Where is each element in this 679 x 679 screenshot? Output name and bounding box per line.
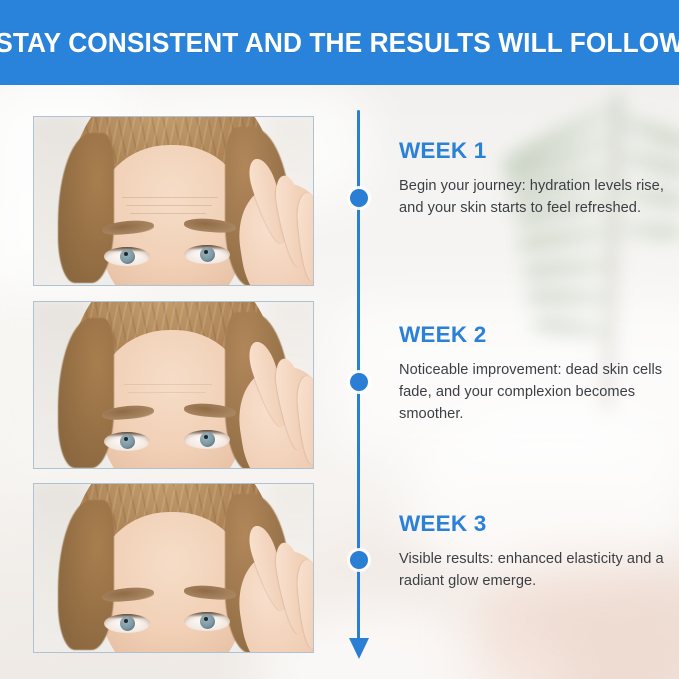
week-2-title: WEEK 2 (399, 322, 667, 348)
week-block-1: WEEK 1 Begin your journey: hydration lev… (399, 138, 667, 219)
eye-left (104, 247, 150, 266)
iris (120, 434, 135, 449)
face-photo (34, 117, 313, 285)
progress-photo-week-2 (33, 301, 314, 469)
progress-photo-week-3 (33, 483, 314, 653)
week-1-description: Begin your journey: hydration levels ris… (399, 175, 667, 219)
timeline-dot-week-1 (350, 189, 368, 207)
week-3-title: WEEK 3 (399, 511, 667, 537)
week-3-description: Visible results: enhanced elasticity and… (399, 548, 671, 592)
hand (205, 328, 314, 469)
plant-leaf (517, 226, 614, 250)
header-banner: STAY CONSISTENT AND THE RESULTS WILL FOL… (0, 0, 679, 85)
iris (120, 616, 135, 631)
page-title: STAY CONSISTENT AND THE RESULTS WILL FOL… (0, 27, 679, 59)
eye-left (104, 614, 150, 633)
arrow-down-icon (349, 638, 369, 659)
hand (205, 145, 314, 286)
infographic-canvas: STAY CONSISTENT AND THE RESULTS WILL FOL… (0, 0, 679, 679)
week-block-2: WEEK 2 Noticeable improvement: dead skin… (399, 322, 667, 426)
plant-leaf (614, 220, 679, 241)
timeline-dot-week-3 (350, 551, 368, 569)
face-photo (34, 484, 313, 652)
week-1-title: WEEK 1 (399, 138, 667, 164)
eye-left (104, 432, 150, 451)
plant-leaf (523, 260, 613, 276)
progress-photo-week-1 (33, 116, 314, 286)
plant-leaf (527, 288, 614, 307)
week-block-3: WEEK 3 Visible results: enhanced elastic… (399, 511, 667, 592)
iris (120, 249, 135, 264)
week-2-description: Noticeable improvement: dead skin cells … (399, 359, 665, 426)
timeline (354, 110, 363, 665)
face-photo (34, 302, 313, 468)
hand (205, 512, 314, 653)
timeline-dot-week-2 (350, 373, 368, 391)
